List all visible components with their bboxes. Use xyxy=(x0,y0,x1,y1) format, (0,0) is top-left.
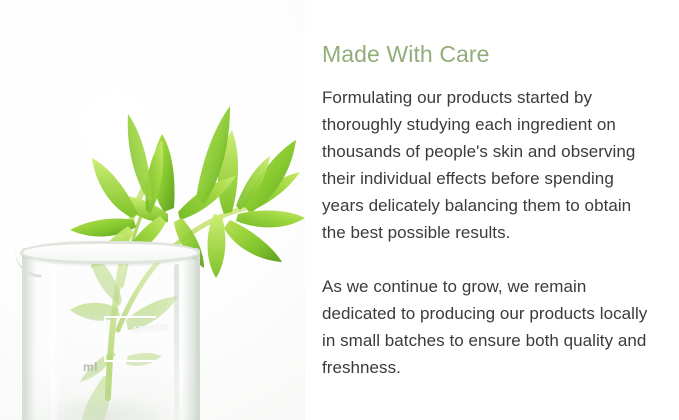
beaker-graduation-tick xyxy=(104,316,156,318)
beaker-graduation-box xyxy=(104,316,156,362)
glass-beaker: APPROX ml xyxy=(14,239,192,420)
copy-panel: Made With Care Formulating our products … xyxy=(305,0,679,420)
beaker-unit-label: ml xyxy=(83,360,98,374)
product-image-panel: APPROX ml xyxy=(0,0,305,420)
beaker-rim xyxy=(20,241,200,264)
made-with-care-banner: APPROX ml Made With Care Formulating our… xyxy=(0,0,679,420)
page-title: Made With Care xyxy=(322,41,655,67)
beaker-spout xyxy=(12,241,46,278)
beaker-approx-label: APPROX xyxy=(132,323,169,334)
glass-highlight-right xyxy=(174,264,179,420)
body-paragraph-2: As we continue to grow, we remain dedica… xyxy=(322,273,655,381)
beaker-body: APPROX ml xyxy=(22,248,200,420)
body-paragraph-1: Formulating our products started by thor… xyxy=(322,84,655,246)
glass-highlight-left xyxy=(50,264,57,420)
beaker-graduation-tick xyxy=(104,360,156,362)
